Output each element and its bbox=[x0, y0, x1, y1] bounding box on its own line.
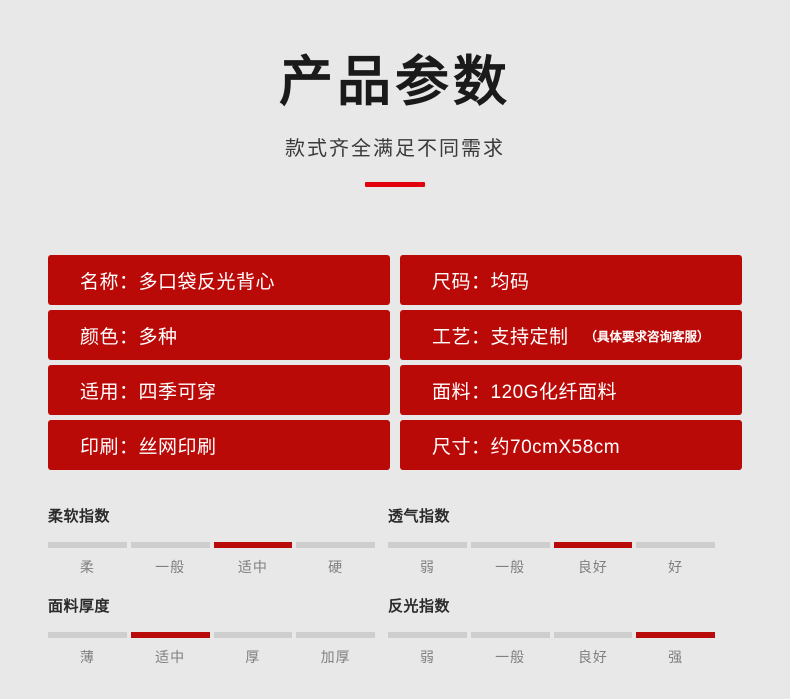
meter-title: 透气指数 bbox=[388, 505, 715, 526]
meter-bar bbox=[48, 632, 375, 638]
meter-segment bbox=[48, 632, 127, 638]
spec-text: 适用：四季可穿 bbox=[80, 377, 217, 404]
meter-label: 厚 bbox=[214, 647, 293, 667]
spec-text: 面料：120G化纤面料 bbox=[432, 377, 617, 404]
meter-segment bbox=[296, 542, 375, 548]
meter-segment bbox=[388, 632, 467, 638]
page-subtitle: 款式齐全满足不同需求 bbox=[0, 132, 790, 161]
meter-labels: 柔 一般 适中 硬 bbox=[48, 557, 375, 577]
spec-column-left: 名称：多口袋反光背心 颜色：多种 适用：四季可穿 印刷：丝网印刷 bbox=[48, 255, 390, 470]
spec-text: 尺寸：约70cmX58cm bbox=[432, 432, 620, 459]
spec-text: 工艺：支持定制 bbox=[432, 322, 569, 349]
spec-row-color: 颜色：多种 bbox=[48, 310, 390, 360]
meter-label: 弱 bbox=[388, 557, 467, 577]
meter-label: 一般 bbox=[471, 557, 550, 577]
meter-label: 好 bbox=[636, 557, 715, 577]
meter-label: 良好 bbox=[554, 557, 633, 577]
spec-row-fabric: 面料：120G化纤面料 bbox=[400, 365, 742, 415]
page-header: 产品参数 款式齐全满足不同需求 bbox=[0, 0, 790, 187]
spec-row-size: 尺码：均码 bbox=[400, 255, 742, 305]
meter-label: 弱 bbox=[388, 647, 467, 667]
meter-label: 良好 bbox=[554, 647, 633, 667]
meter-segment bbox=[48, 542, 127, 548]
meter-segment bbox=[471, 632, 550, 638]
page-title: 产品参数 bbox=[0, 52, 790, 112]
spec-row-printing: 印刷：丝网印刷 bbox=[48, 420, 390, 470]
rating-meters: 柔软指数 柔 一般 适中 硬 透气指数 弱 bbox=[48, 505, 725, 685]
product-parameters-page: 产品参数 款式齐全满足不同需求 名称：多口袋反光背心 颜色：多种 适用：四季可穿… bbox=[0, 0, 790, 699]
meter-label: 薄 bbox=[48, 647, 127, 667]
meter-reflectivity: 反光指数 弱 一般 良好 强 bbox=[388, 595, 715, 667]
meter-label: 一般 bbox=[471, 647, 550, 667]
meter-segment bbox=[214, 632, 293, 638]
meter-segment bbox=[471, 542, 550, 548]
meter-labels: 弱 一般 良好 强 bbox=[388, 647, 715, 667]
meter-labels: 弱 一般 良好 好 bbox=[388, 557, 715, 577]
spec-text: 名称：多口袋反光背心 bbox=[80, 267, 275, 294]
meter-title: 反光指数 bbox=[388, 595, 715, 616]
specification-grid: 名称：多口袋反光背心 颜色：多种 适用：四季可穿 印刷：丝网印刷 尺码：均码 工… bbox=[48, 255, 742, 470]
spec-row-usage: 适用：四季可穿 bbox=[48, 365, 390, 415]
spec-text: 颜色：多种 bbox=[80, 322, 178, 349]
meter-label: 硬 bbox=[296, 557, 375, 577]
meter-segment-active bbox=[636, 632, 715, 638]
meter-label: 强 bbox=[636, 647, 715, 667]
spec-text: 印刷：丝网印刷 bbox=[80, 432, 217, 459]
spec-column-right: 尺码：均码 工艺：支持定制 （具体要求咨询客服） 面料：120G化纤面料 尺寸：… bbox=[400, 255, 742, 470]
meter-label: 一般 bbox=[131, 557, 210, 577]
meter-title: 面料厚度 bbox=[48, 595, 375, 616]
meter-label: 适中 bbox=[214, 557, 293, 577]
meter-bar bbox=[388, 632, 715, 638]
meter-bar bbox=[48, 542, 375, 548]
spec-text: 尺码：均码 bbox=[432, 267, 530, 294]
title-underline-rule bbox=[365, 182, 425, 187]
meter-segment bbox=[296, 632, 375, 638]
meter-title: 柔软指数 bbox=[48, 505, 375, 526]
meter-segment bbox=[131, 542, 210, 548]
meter-segment-active bbox=[554, 542, 633, 548]
spec-row-craft: 工艺：支持定制 （具体要求咨询客服） bbox=[400, 310, 742, 360]
meter-fabric-thickness: 面料厚度 薄 适中 厚 加厚 bbox=[48, 595, 375, 667]
meter-softness: 柔软指数 柔 一般 适中 硬 bbox=[48, 505, 375, 577]
meter-label: 柔 bbox=[48, 557, 127, 577]
meter-label: 加厚 bbox=[296, 647, 375, 667]
spec-row-name: 名称：多口袋反光背心 bbox=[48, 255, 390, 305]
meter-segment bbox=[554, 632, 633, 638]
meter-segment bbox=[388, 542, 467, 548]
spec-row-dimensions: 尺寸：约70cmX58cm bbox=[400, 420, 742, 470]
meter-segment-active bbox=[214, 542, 293, 548]
meter-label: 适中 bbox=[131, 647, 210, 667]
meter-segment bbox=[636, 542, 715, 548]
meter-labels: 薄 适中 厚 加厚 bbox=[48, 647, 375, 667]
meter-segment-active bbox=[131, 632, 210, 638]
meter-bar bbox=[388, 542, 715, 548]
spec-note: （具体要求咨询客服） bbox=[585, 326, 710, 345]
meter-breathability: 透气指数 弱 一般 良好 好 bbox=[388, 505, 715, 577]
